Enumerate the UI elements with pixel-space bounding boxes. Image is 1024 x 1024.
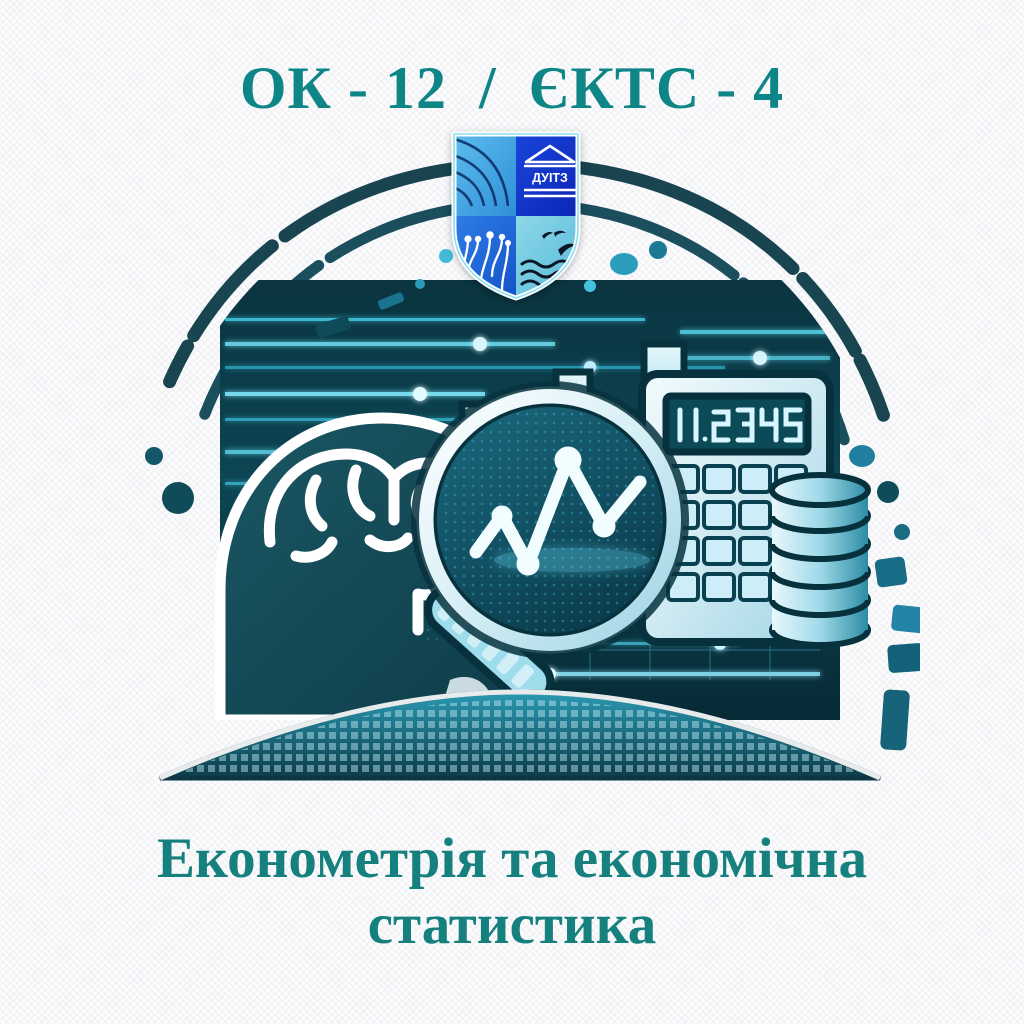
course-title: Економетрія та економічна статистика [0,826,1024,958]
poster-stage: ОК - 12 / ЄКТС - 4 [0,0,1024,1024]
shield-abbreviation: ДУІТЗ [532,171,568,185]
coin-stack [772,475,868,645]
magnifier [415,385,685,655]
tech-panel [220,280,868,725]
course-title-line2: статистика [0,892,1024,958]
university-shield-emblem: ДУІТЗ [446,124,586,304]
course-code-title: ОК - 12 / ЄКТС - 4 [0,58,1024,118]
course-title-line1: Економетрія та економічна [157,827,867,890]
